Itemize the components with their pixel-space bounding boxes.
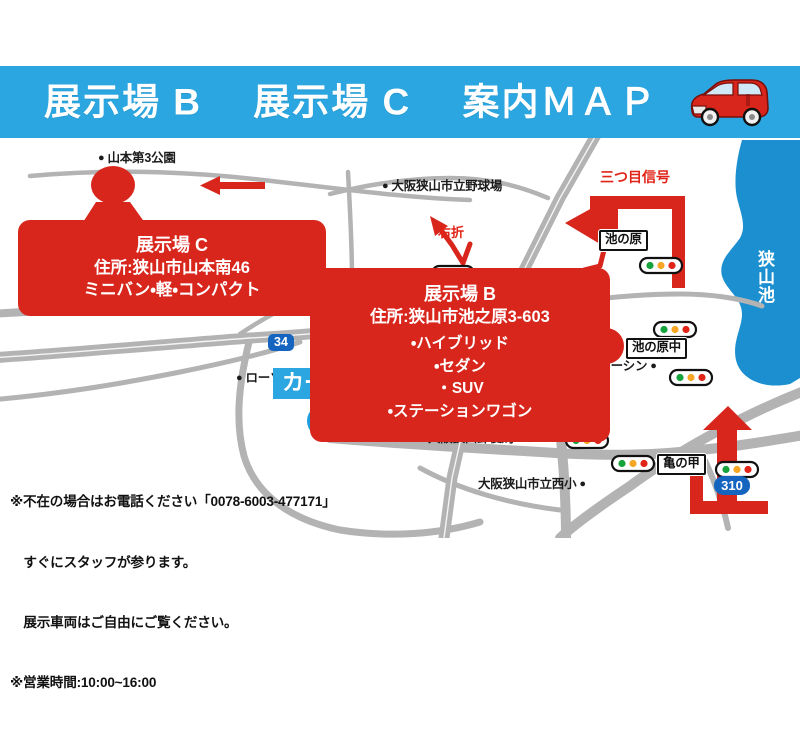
- note-turn-right: 右折: [438, 226, 464, 239]
- callout-b-address: 住所:狭山市池之原3-603: [320, 306, 600, 328]
- callout-b-bullet: ・セダン: [320, 356, 600, 379]
- callout-b-bullets: ・ハイブリッド ・セダン ・SUV ・ステーションワゴン: [320, 333, 600, 424]
- marker-ten-ji-jou-c: [91, 166, 135, 204]
- callout-c-types: ミニバン・軽・コンパクト: [26, 279, 318, 301]
- red-car-icon: [686, 76, 772, 128]
- route-shield-34: 34: [268, 334, 294, 351]
- callout-c-title: 展示場 C: [26, 233, 318, 257]
- route-shield-310: 310: [714, 476, 750, 495]
- callout-tenjijou-b: 展示場 B 住所:狭山市池之原3-603 ・ハイブリッド ・セダン ・SUV ・…: [310, 268, 610, 442]
- intersection-ikenohara: 池の原: [599, 230, 648, 251]
- callout-b-bullet: ・SUV: [320, 378, 600, 401]
- callout-c-address: 住所:狭山市山本南46: [26, 257, 318, 279]
- callout-b-bullet: ・ハイブリッド: [320, 333, 600, 356]
- intersection-ikenoharanaka: 池の原中: [626, 338, 687, 359]
- map-flyer: 展示場 B 展示場 C 案内ＭＡＰ: [0, 0, 800, 600]
- footer-line-freely: 展示車両はご自由にご覧ください。: [10, 613, 430, 633]
- intersection-kamenoko: 亀の甲: [657, 454, 706, 475]
- callout-b-bullet: ・ステーションワゴン: [320, 401, 600, 424]
- note-third-signal: 三つ目信号: [600, 170, 670, 184]
- footer-notes: ※不在の場合はお電話ください「0078-6003-477171」 すぐにスタッフ…: [10, 452, 430, 734]
- poi-nishi-elementary: 大阪狭山市立西小: [478, 478, 586, 491]
- footer-line-hours: ※営業時間:10:00~16:00: [10, 673, 430, 693]
- header-bar: 展示場 B 展示場 C 案内ＭＡＰ: [0, 66, 800, 138]
- poi-baseball-stadium: 大阪狭山市立野球場: [382, 180, 502, 193]
- callout-tenjijou-c: 展示場 C 住所:狭山市山本南46 ミニバン・軽・コンパクト: [18, 220, 326, 316]
- lake-label: 狭山池: [755, 250, 774, 304]
- page-title: 展示場 B 展示場 C 案内ＭＡＰ: [44, 84, 658, 121]
- callout-b-title: 展示場 B: [320, 282, 600, 306]
- footer-line-staff: すぐにスタッフが参ります。: [10, 553, 430, 573]
- poi-yamamoto-park: 山本第3公園: [98, 152, 176, 165]
- footer-line-phone: ※不在の場合はお電話ください「0078-6003-477171」: [10, 492, 430, 512]
